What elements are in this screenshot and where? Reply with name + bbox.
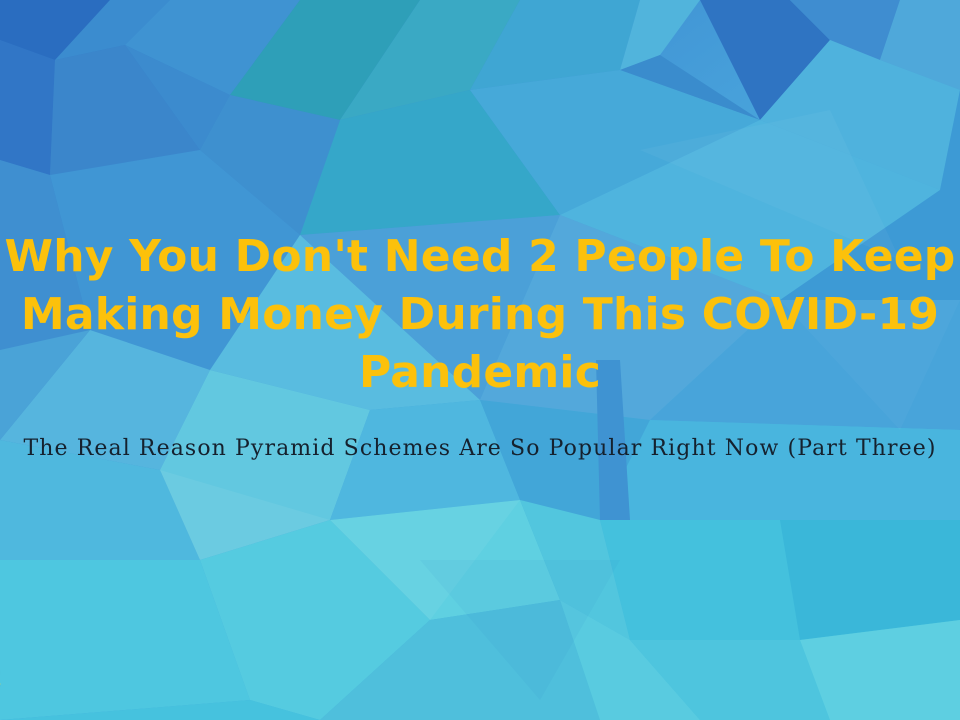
subtitle-text: The Real Reason Pyramid Schemes Are So P… bbox=[23, 436, 936, 461]
logo-wordmark: lth bbox=[0, 654, 3, 694]
bar-mark-icon bbox=[0, 606, 6, 652]
title-slide: Why You Don't Need 2 People To Keep Maki… bbox=[0, 0, 960, 720]
title-line-2: Making Money During This COVID-19 bbox=[4, 286, 956, 344]
title-line-1: Why You Don't Need 2 People To Keep bbox=[4, 228, 956, 286]
slide-subtitle: The Real Reason Pyramid Schemes Are So P… bbox=[0, 434, 960, 464]
title-line-3: Pandemic bbox=[4, 344, 956, 402]
slide-content: Why You Don't Need 2 People To Keep Maki… bbox=[0, 0, 960, 720]
slide-title: Why You Don't Need 2 People To Keep Maki… bbox=[0, 228, 960, 402]
brand-logo: lth bbox=[0, 602, 98, 712]
